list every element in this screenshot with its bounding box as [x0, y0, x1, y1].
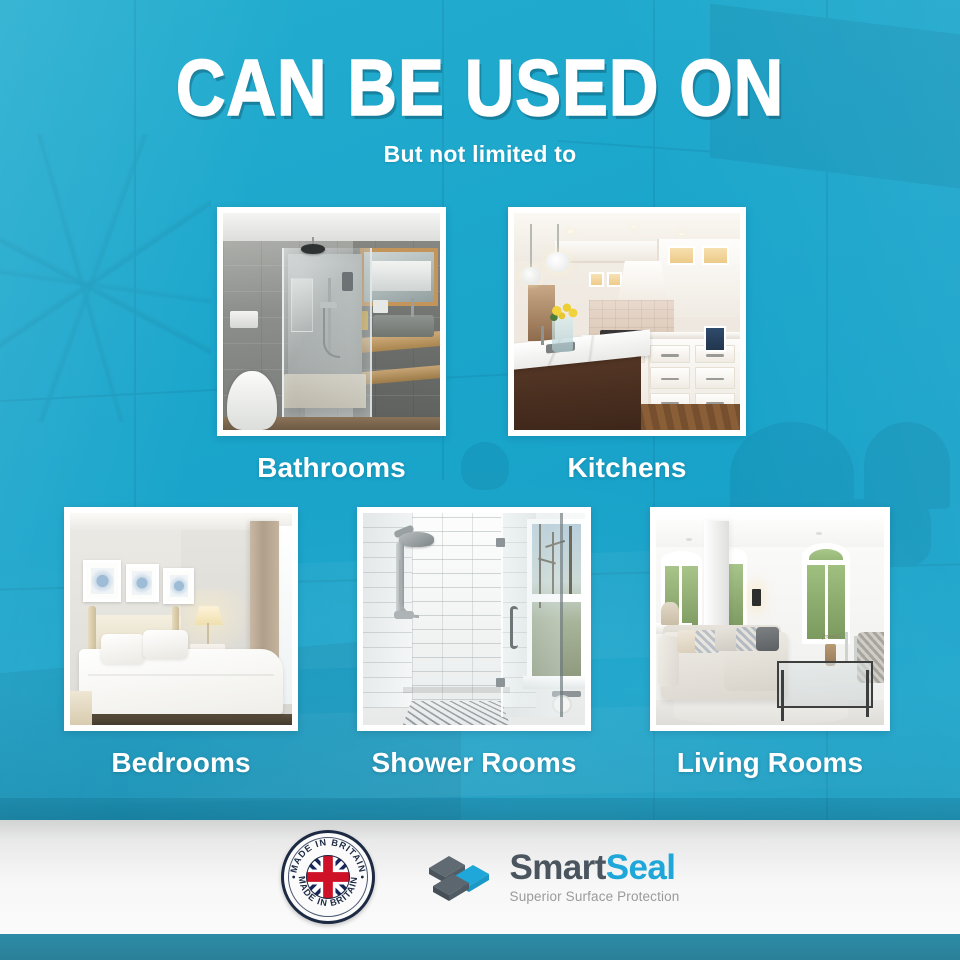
- tile-living-rooms[interactable]: [650, 507, 890, 731]
- poster: CAN BE USED ON But not limited to: [0, 0, 960, 960]
- caption-bathrooms: Bathrooms: [217, 452, 446, 484]
- photo-shower-rooms: [363, 513, 585, 725]
- divider-band: [0, 798, 960, 820]
- wordmark-seal: Seal: [606, 848, 676, 887]
- footer: MADE IN BRITAIN MADE IN BRITAIN: [0, 820, 960, 934]
- tile-shower-rooms[interactable]: [357, 507, 591, 731]
- caption-shower-rooms: Shower Rooms: [357, 747, 591, 779]
- svg-text:MADE IN BRITAIN: MADE IN BRITAIN: [296, 875, 359, 908]
- tile-bedrooms[interactable]: [64, 507, 298, 731]
- caption-kitchens: Kitchens: [508, 452, 746, 484]
- photo-bedrooms: [70, 513, 292, 725]
- headline-block: CAN BE USED ON But not limited to: [0, 50, 960, 168]
- page-subtitle: But not limited to: [0, 141, 960, 168]
- tile-kitchens[interactable]: [508, 207, 746, 436]
- caption-bedrooms: Bedrooms: [64, 747, 298, 779]
- smartseal-logo: SmartSeal Superior Surface Protection: [419, 846, 680, 908]
- photo-kitchens: [514, 213, 740, 430]
- union-jack-icon: [306, 855, 350, 899]
- wordmark-smart: Smart: [510, 848, 606, 887]
- smartseal-tagline: Superior Surface Protection: [510, 890, 680, 904]
- photo-living-rooms: [656, 513, 884, 725]
- photo-bathrooms: [223, 213, 440, 430]
- caption-living-rooms: Living Rooms: [650, 747, 890, 779]
- svg-text:MADE IN BRITAIN: MADE IN BRITAIN: [288, 837, 367, 874]
- page-title: CAN BE USED ON: [67, 50, 893, 125]
- made-in-britain-badge: MADE IN BRITAIN MADE IN BRITAIN: [281, 830, 375, 924]
- smartseal-logo-mark: [419, 846, 497, 908]
- smartseal-wordmark: SmartSeal: [510, 850, 680, 885]
- bottom-band: [0, 934, 960, 960]
- tile-bathrooms[interactable]: [217, 207, 446, 436]
